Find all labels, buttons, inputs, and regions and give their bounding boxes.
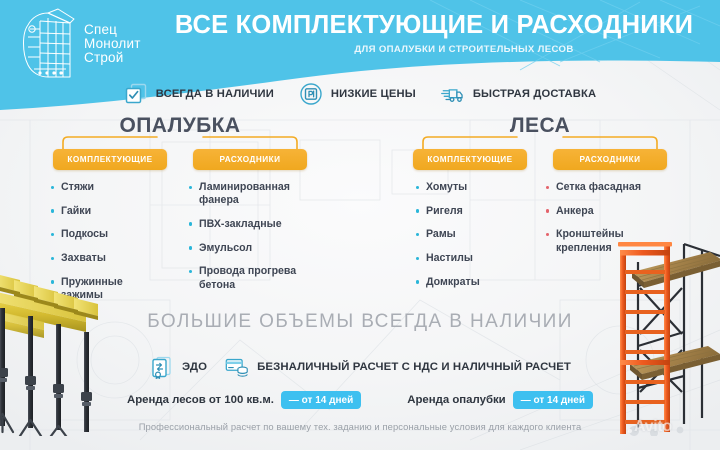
list-item: ПВХ-закладные bbox=[188, 218, 310, 231]
brand-logo[interactable]: Спец Монолит Строй bbox=[18, 6, 150, 82]
rental-label: Аренда опалубки bbox=[407, 394, 505, 406]
list-item: Эмульсол bbox=[188, 242, 310, 255]
category-pill-components[interactable]: КОМПЛЕКТУЮЩИЕ bbox=[53, 149, 167, 170]
watermark-dot-icon bbox=[628, 429, 632, 433]
column-opalubka-consumables: Ламинированная фанера ПВХ-закладные Эмул… bbox=[188, 181, 310, 313]
payment-label: БЕЗНАЛИЧНЫЙ РАСЧЕТ С НДС И НАЛИЧНЫЙ РАСЧ… bbox=[257, 361, 571, 373]
group-pill-row: КОМПЛЕКТУЮЩИЕ РАСХОДНИКИ bbox=[360, 149, 720, 170]
product-list: Хомуты Ригеля Рамы Настилы Домкраты bbox=[415, 181, 519, 289]
brand-line-1: Спец bbox=[84, 23, 141, 37]
page-subtitle: ДЛЯ ОПАЛУБКИ И СТРОИТЕЛЬНЫХ ЛЕСОВ bbox=[160, 44, 708, 55]
group-pill-row: КОМПЛЕКТУЮЩИЕ РАСХОДНИКИ bbox=[0, 149, 360, 170]
scaffolding-tower-photo bbox=[592, 228, 720, 436]
list-item: Рамы bbox=[415, 228, 519, 241]
feature-label: ВСЕГДА В НАЛИЧИИ bbox=[156, 88, 274, 100]
building-line-art-icon bbox=[18, 7, 80, 81]
checkbox-stack-icon bbox=[124, 82, 148, 106]
page-title: ВСЕ КОМПЛЕКТУЮЩИЕ И РАСХОДНИКИ bbox=[160, 12, 708, 39]
avito-watermark: Avito bbox=[628, 418, 672, 436]
header-text-block: ВСЕ КОМПЛЕКТУЮЩИЕ И РАСХОДНИКИ ДЛЯ ОПАЛУ… bbox=[160, 12, 708, 55]
feature-item-stock: ВСЕГДА В НАЛИЧИИ bbox=[124, 82, 274, 106]
rental-item-formwork: Аренда опалубки — от 14 дней bbox=[407, 391, 593, 409]
payment-label: ЭДО bbox=[182, 361, 207, 373]
rental-term-badge[interactable]: — от 14 дней bbox=[513, 391, 593, 409]
formwork-props-photo bbox=[0, 236, 128, 436]
feature-item-delivery: БЫСТРАЯ ДОСТАВКА bbox=[441, 82, 596, 106]
list-item: Хомуты bbox=[415, 181, 519, 194]
delivery-truck-icon bbox=[441, 82, 465, 106]
list-item: Анкера bbox=[545, 205, 665, 218]
category-pill-consumables[interactable]: РАСХОДНИКИ bbox=[553, 149, 667, 170]
category-pill-consumables[interactable]: РАСХОДНИКИ bbox=[193, 149, 307, 170]
feature-badges: ВСЕГДА В НАЛИЧИИ НИЗКИЕ ЦЕНЫ БЫСТРАЯ ДОС… bbox=[0, 77, 720, 111]
card-coins-icon bbox=[224, 355, 250, 379]
payment-item-methods: БЕЗНАЛИЧНЫЙ РАСЧЕТ С НДС И НАЛИЧНЫЙ РАСЧ… bbox=[224, 355, 571, 379]
list-item: Гайки bbox=[50, 205, 162, 218]
list-item: Ригеля bbox=[415, 205, 519, 218]
brand-name: Спец Монолит Строй bbox=[84, 23, 141, 65]
list-item: Провода прогрева бетона bbox=[188, 265, 310, 291]
watermark-label: Avito bbox=[634, 418, 672, 436]
brand-line-2: Монолит bbox=[84, 37, 141, 51]
feature-item-prices: НИЗКИЕ ЦЕНЫ bbox=[299, 82, 416, 106]
promo-poster: Спец Монолит Строй ВСЕ КОМПЛЕКТУЮЩИЕ И Р… bbox=[0, 0, 720, 450]
list-item: Настилы bbox=[415, 252, 519, 265]
column-lesa-components: Хомуты Ригеля Рамы Настилы Домкраты bbox=[415, 181, 519, 300]
rental-label: Аренда лесов от 100 кв.м. bbox=[127, 394, 274, 406]
list-item: Домкраты bbox=[415, 276, 519, 289]
edo-document-icon bbox=[149, 355, 175, 379]
rental-term-badge[interactable]: — от 14 дней bbox=[281, 391, 361, 409]
list-item: Стяжи bbox=[50, 181, 162, 194]
feature-label: БЫСТРАЯ ДОСТАВКА bbox=[473, 88, 596, 100]
payment-item-edo: ЭДО bbox=[149, 355, 207, 379]
list-item: Сетка фасадная bbox=[545, 181, 665, 194]
list-item: Ламинированная фанера bbox=[188, 181, 310, 207]
brand-line-3: Строй bbox=[84, 51, 141, 65]
category-pill-components[interactable]: КОМПЛЕКТУЮЩИЕ bbox=[413, 149, 527, 170]
feature-label: НИЗКИЕ ЦЕНЫ bbox=[331, 88, 416, 100]
rental-item-scaffolding: Аренда лесов от 100 кв.м. — от 14 дней bbox=[127, 391, 361, 409]
price-tag-icon bbox=[299, 82, 323, 106]
product-list: Ламинированная фанера ПВХ-закладные Эмул… bbox=[188, 181, 310, 292]
